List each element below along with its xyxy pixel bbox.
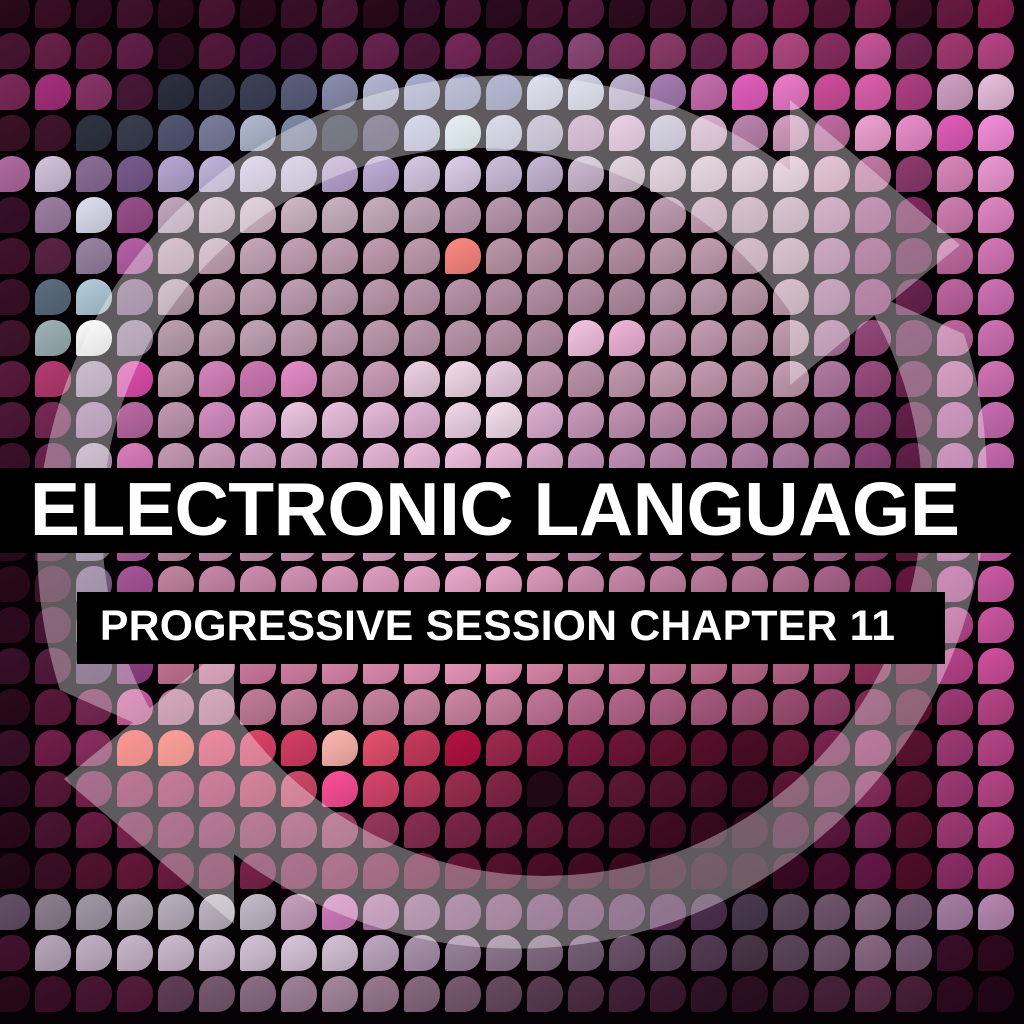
matrix-dot [527, 238, 563, 274]
matrix-dot [978, 730, 1014, 766]
matrix-dot [117, 361, 153, 397]
matrix-dot [978, 320, 1014, 356]
matrix-dot [978, 0, 1014, 28]
matrix-dot [773, 730, 809, 766]
matrix-dot [322, 74, 358, 110]
matrix-dot [568, 853, 604, 889]
matrix-dot [486, 197, 522, 233]
matrix-dot [855, 853, 891, 889]
matrix-dot [76, 115, 112, 151]
matrix-dot [0, 402, 30, 438]
matrix-dot [896, 115, 932, 151]
matrix-dot [404, 853, 440, 889]
matrix-dot [199, 935, 235, 971]
matrix-dot [773, 935, 809, 971]
matrix-dot [322, 197, 358, 233]
matrix-dot [773, 115, 809, 151]
page-subtitle: PROGRESSIVE SESSION CHAPTER 11 [77, 602, 895, 651]
matrix-dot [773, 238, 809, 274]
matrix-dot [568, 361, 604, 397]
matrix-dot [199, 812, 235, 848]
matrix-dot [609, 320, 645, 356]
matrix-dot [691, 771, 727, 807]
matrix-dot [527, 689, 563, 725]
matrix-dot [773, 689, 809, 725]
matrix-dot [445, 894, 481, 930]
matrix-dot [117, 812, 153, 848]
matrix-dot [486, 115, 522, 151]
matrix-dot [691, 894, 727, 930]
matrix-dot [404, 689, 440, 725]
matrix-dot [240, 402, 276, 438]
matrix-dot [0, 320, 30, 356]
matrix-dot [240, 361, 276, 397]
matrix-dot [609, 33, 645, 69]
matrix-dot [240, 935, 276, 971]
matrix-dot [486, 74, 522, 110]
matrix-dot [158, 361, 194, 397]
matrix-dot [76, 320, 112, 356]
matrix-dot [240, 976, 276, 1012]
matrix-dot [732, 238, 768, 274]
matrix-dot [199, 0, 235, 28]
matrix-dot [404, 238, 440, 274]
matrix-dot [691, 361, 727, 397]
matrix-dot [691, 238, 727, 274]
matrix-dot [35, 74, 71, 110]
matrix-dot [445, 935, 481, 971]
matrix-dot [117, 115, 153, 151]
matrix-dot [609, 976, 645, 1012]
matrix-dot [35, 115, 71, 151]
matrix-dot [158, 33, 194, 69]
matrix-dot [609, 771, 645, 807]
matrix-dot [117, 279, 153, 315]
matrix-dot [0, 361, 30, 397]
matrix-dot [732, 115, 768, 151]
matrix-dot [158, 402, 194, 438]
matrix-dot [568, 976, 604, 1012]
matrix-dot [281, 33, 317, 69]
matrix-dot [404, 0, 440, 28]
matrix-dot [650, 689, 686, 725]
matrix-dot [35, 156, 71, 192]
matrix-dot [855, 320, 891, 356]
matrix-dot [568, 812, 604, 848]
matrix-dot [363, 33, 399, 69]
matrix-dot [240, 156, 276, 192]
matrix-dot [855, 74, 891, 110]
matrix-dot [896, 935, 932, 971]
matrix-dot [691, 197, 727, 233]
matrix-dot [568, 730, 604, 766]
matrix-dot [363, 976, 399, 1012]
matrix-dot [322, 361, 358, 397]
matrix-dot [527, 115, 563, 151]
matrix-dot [158, 74, 194, 110]
matrix-dot [691, 689, 727, 725]
matrix-dot [445, 771, 481, 807]
matrix-dot [363, 361, 399, 397]
matrix-dot [158, 156, 194, 192]
matrix-dot [322, 0, 358, 28]
matrix-dot [363, 812, 399, 848]
matrix-dot [937, 238, 973, 274]
matrix-dot [486, 279, 522, 315]
matrix-dot [896, 853, 932, 889]
matrix-dot [609, 689, 645, 725]
matrix-dot [486, 238, 522, 274]
matrix-dot [486, 853, 522, 889]
matrix-dot [568, 894, 604, 930]
matrix-dot [773, 894, 809, 930]
matrix-dot [691, 0, 727, 28]
matrix-dot [855, 935, 891, 971]
matrix-dot [35, 33, 71, 69]
matrix-dot [0, 0, 30, 28]
matrix-dot [76, 812, 112, 848]
matrix-dot [773, 853, 809, 889]
matrix-dot [691, 320, 727, 356]
matrix-dot [773, 976, 809, 1012]
matrix-dot [404, 320, 440, 356]
matrix-dot [978, 689, 1014, 725]
matrix-dot [609, 361, 645, 397]
matrix-dot [35, 607, 71, 643]
matrix-dot [322, 689, 358, 725]
matrix-dot [650, 976, 686, 1012]
matrix-dot [76, 279, 112, 315]
matrix-dot [0, 689, 30, 725]
matrix-dot [35, 935, 71, 971]
matrix-dot [35, 894, 71, 930]
matrix-dot [609, 935, 645, 971]
matrix-dot [609, 402, 645, 438]
matrix-dot [896, 771, 932, 807]
matrix-dot [158, 894, 194, 930]
matrix-dot [0, 771, 30, 807]
matrix-dot [978, 238, 1014, 274]
matrix-dot [650, 361, 686, 397]
matrix-dot [158, 771, 194, 807]
matrix-dot [650, 0, 686, 28]
matrix-dot [404, 976, 440, 1012]
matrix-dot [117, 156, 153, 192]
matrix-dot [855, 197, 891, 233]
matrix-dot [978, 935, 1014, 971]
matrix-dot [281, 74, 317, 110]
matrix-dot [937, 402, 973, 438]
matrix-dot [568, 115, 604, 151]
matrix-dot [773, 812, 809, 848]
matrix-dot [117, 771, 153, 807]
matrix-dot [527, 156, 563, 192]
matrix-dot [732, 33, 768, 69]
matrix-dot [609, 238, 645, 274]
matrix-dot [76, 238, 112, 274]
matrix-dot [937, 894, 973, 930]
matrix-dot [322, 33, 358, 69]
matrix-dot [568, 279, 604, 315]
matrix-dot [896, 402, 932, 438]
matrix-dot [363, 197, 399, 233]
matrix-dot [691, 74, 727, 110]
matrix-dot [937, 115, 973, 151]
matrix-dot [855, 771, 891, 807]
matrix-dot [199, 689, 235, 725]
matrix-dot [35, 361, 71, 397]
matrix-dot [568, 320, 604, 356]
matrix-dot [322, 156, 358, 192]
matrix-dot [650, 853, 686, 889]
matrix-dot [732, 976, 768, 1012]
matrix-dot [363, 689, 399, 725]
matrix-dot [896, 74, 932, 110]
matrix-dot [0, 279, 30, 315]
matrix-dot [609, 853, 645, 889]
matrix-dot [363, 238, 399, 274]
matrix-dot [978, 607, 1014, 643]
matrix-dot [896, 238, 932, 274]
matrix-dot [445, 689, 481, 725]
matrix-dot [117, 894, 153, 930]
matrix-dot [35, 976, 71, 1012]
matrix-dot [814, 238, 850, 274]
matrix-dot [691, 976, 727, 1012]
matrix-dot [445, 197, 481, 233]
matrix-dot [568, 771, 604, 807]
matrix-dot [76, 935, 112, 971]
matrix-dot [609, 156, 645, 192]
matrix-dot [486, 730, 522, 766]
matrix-dot [978, 361, 1014, 397]
matrix-dot [158, 279, 194, 315]
matrix-dot [363, 74, 399, 110]
matrix-dot [691, 279, 727, 315]
matrix-dot [0, 33, 30, 69]
matrix-dot [486, 935, 522, 971]
matrix-dot [691, 156, 727, 192]
matrix-dot [691, 935, 727, 971]
matrix-dot [76, 894, 112, 930]
matrix-dot [650, 320, 686, 356]
matrix-dot [35, 0, 71, 28]
matrix-dot [937, 0, 973, 28]
matrix-dot [814, 361, 850, 397]
matrix-dot [650, 115, 686, 151]
matrix-dot [240, 0, 276, 28]
matrix-dot [650, 730, 686, 766]
matrix-dot [117, 238, 153, 274]
matrix-dot [76, 976, 112, 1012]
matrix-dot [527, 730, 563, 766]
matrix-dot [814, 976, 850, 1012]
matrix-dot [35, 279, 71, 315]
matrix-dot [773, 361, 809, 397]
matrix-dot [117, 74, 153, 110]
matrix-dot [691, 853, 727, 889]
matrix-dot [937, 853, 973, 889]
matrix-dot [281, 115, 317, 151]
matrix-dot [117, 853, 153, 889]
matrix-dot [0, 115, 30, 151]
matrix-dot [445, 279, 481, 315]
matrix-dot [527, 853, 563, 889]
matrix-dot [814, 853, 850, 889]
matrix-dot [199, 976, 235, 1012]
matrix-dot [445, 156, 481, 192]
matrix-dot [896, 156, 932, 192]
matrix-dot [978, 74, 1014, 110]
matrix-dot [117, 402, 153, 438]
matrix-dot [199, 730, 235, 766]
matrix-dot [978, 279, 1014, 315]
matrix-dot [0, 197, 30, 233]
matrix-dot [978, 771, 1014, 807]
matrix-dot [650, 894, 686, 930]
matrix-dot [937, 156, 973, 192]
matrix-dot [76, 689, 112, 725]
matrix-dot [978, 156, 1014, 192]
matrix-dot [445, 115, 481, 151]
matrix-dot [404, 74, 440, 110]
matrix-dot [568, 689, 604, 725]
matrix-dot [814, 894, 850, 930]
matrix-dot [76, 771, 112, 807]
matrix-dot [486, 361, 522, 397]
matrix-dot [117, 935, 153, 971]
matrix-dot [855, 976, 891, 1012]
matrix-dot [568, 935, 604, 971]
matrix-dot [0, 976, 30, 1012]
matrix-dot [35, 238, 71, 274]
matrix-dot [35, 812, 71, 848]
matrix-dot [76, 361, 112, 397]
matrix-dot [937, 279, 973, 315]
matrix-dot [486, 689, 522, 725]
matrix-dot [363, 730, 399, 766]
matrix-dot [896, 320, 932, 356]
matrix-dot [363, 115, 399, 151]
matrix-dot [732, 197, 768, 233]
matrix-dot [527, 361, 563, 397]
matrix-dot [855, 402, 891, 438]
matrix-dot [773, 279, 809, 315]
matrix-dot [199, 33, 235, 69]
matrix-dot [855, 0, 891, 28]
matrix-dot [650, 279, 686, 315]
matrix-dot [322, 115, 358, 151]
matrix-dot [691, 730, 727, 766]
matrix-dot [0, 894, 30, 930]
matrix-dot [281, 0, 317, 28]
matrix-dot [35, 320, 71, 356]
matrix-dot [814, 0, 850, 28]
matrix-dot [773, 197, 809, 233]
matrix-dot [855, 894, 891, 930]
subtitle-plate: PROGRESSIVE SESSION CHAPTER 11 [77, 592, 945, 664]
matrix-dot [281, 238, 317, 274]
matrix-dot [322, 279, 358, 315]
matrix-dot [281, 730, 317, 766]
matrix-dot [322, 853, 358, 889]
matrix-dot [240, 689, 276, 725]
matrix-dot [322, 320, 358, 356]
matrix-dot [814, 320, 850, 356]
matrix-dot [240, 853, 276, 889]
matrix-dot [158, 730, 194, 766]
matrix-dot [0, 238, 30, 274]
matrix-dot [240, 812, 276, 848]
matrix-dot [814, 730, 850, 766]
matrix-dot [76, 0, 112, 28]
matrix-dot [568, 33, 604, 69]
matrix-dot [445, 402, 481, 438]
matrix-dot [281, 976, 317, 1012]
matrix-dot [158, 0, 194, 28]
matrix-dot [240, 894, 276, 930]
matrix-dot [158, 238, 194, 274]
matrix-dot [281, 320, 317, 356]
matrix-dot [855, 812, 891, 848]
matrix-dot [404, 115, 440, 151]
matrix-dot [322, 894, 358, 930]
matrix-dot [76, 730, 112, 766]
matrix-dot [281, 894, 317, 930]
matrix-dot [0, 730, 30, 766]
matrix-dot [158, 976, 194, 1012]
matrix-dot [609, 74, 645, 110]
matrix-dot [978, 115, 1014, 151]
matrix-dot [855, 156, 891, 192]
matrix-dot [732, 402, 768, 438]
matrix-dot [35, 853, 71, 889]
matrix-dot [527, 0, 563, 28]
matrix-dot [896, 197, 932, 233]
matrix-dot [527, 74, 563, 110]
matrix-dot [363, 156, 399, 192]
matrix-dot [158, 197, 194, 233]
matrix-dot [896, 812, 932, 848]
matrix-dot [814, 402, 850, 438]
matrix-dot [814, 279, 850, 315]
matrix-dot [404, 156, 440, 192]
matrix-dot [609, 279, 645, 315]
matrix-dot [650, 771, 686, 807]
matrix-dot [568, 238, 604, 274]
matrix-dot [486, 771, 522, 807]
matrix-dot [0, 607, 30, 643]
matrix-dot [322, 771, 358, 807]
matrix-dot [814, 156, 850, 192]
matrix-dot [855, 730, 891, 766]
matrix-dot [281, 935, 317, 971]
matrix-dot [445, 361, 481, 397]
matrix-dot [773, 0, 809, 28]
matrix-dot [978, 853, 1014, 889]
matrix-dot [609, 115, 645, 151]
matrix-dot [404, 279, 440, 315]
album-cover: ELECTRONIC LANGUAGE PROGRESSIVE SESSION … [0, 0, 1024, 1024]
matrix-dot [814, 115, 850, 151]
matrix-dot [404, 197, 440, 233]
matrix-dot [486, 320, 522, 356]
matrix-dot [117, 730, 153, 766]
matrix-dot [568, 156, 604, 192]
matrix-dot [732, 935, 768, 971]
matrix-dot [568, 402, 604, 438]
matrix-dot [896, 33, 932, 69]
